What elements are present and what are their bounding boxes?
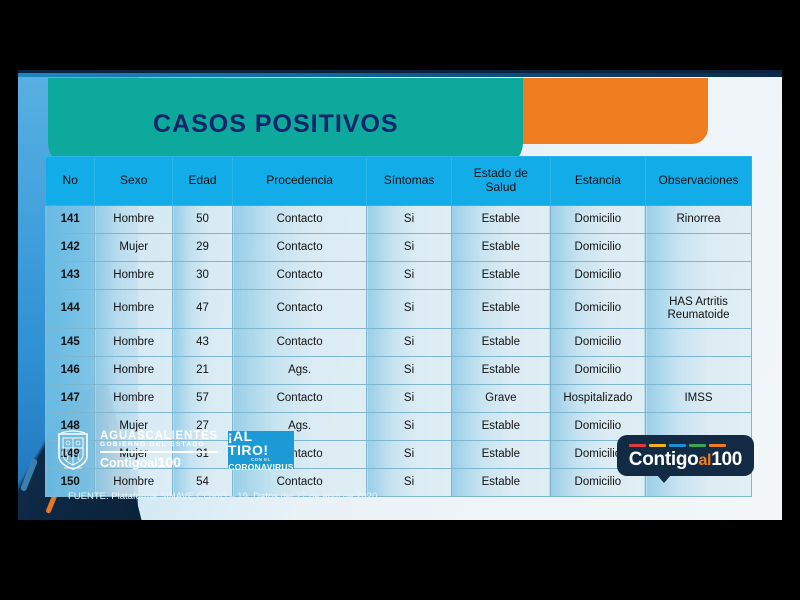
- column-header-estado-line1: Estado de: [474, 166, 528, 180]
- cell-edad: 47: [173, 290, 233, 329]
- gobierno-100-number: 100: [158, 454, 181, 470]
- table-row: 142Mujer29ContactoSiEstableDomicilio: [46, 234, 752, 262]
- table-row: 146Hombre21Ags.SiEstableDomicilio: [46, 357, 752, 385]
- cell-no: 147: [46, 385, 95, 413]
- cell-procedencia: Contacto: [233, 234, 367, 262]
- column-header-procedencia: Procedencia: [233, 157, 367, 206]
- cell-sintomas: Si: [367, 234, 452, 262]
- cell-estancia: Domicilio: [550, 262, 645, 290]
- altiro-title: ¡AL TIRO!: [228, 429, 294, 457]
- cell-estado-salud: Estable: [451, 206, 550, 234]
- altiro-coronavirus: CORONAVIRUS: [228, 463, 293, 472]
- aguascalientes-shield-icon: [56, 430, 90, 470]
- gobierno-al-word: al: [147, 456, 157, 470]
- cell-estado-salud: Estable: [451, 357, 550, 385]
- cell-estancia: Domicilio: [550, 329, 645, 357]
- cell-sexo: Hombre: [95, 290, 173, 329]
- cell-sintomas: Si: [367, 290, 452, 329]
- gobierno-divider: [100, 451, 218, 453]
- cell-edad: 21: [173, 357, 233, 385]
- cell-edad: 29: [173, 234, 233, 262]
- contigo-bar-4: [709, 444, 726, 447]
- table-row: 141Hombre50ContactoSiEstableDomicilioRin…: [46, 206, 752, 234]
- cell-observaciones: IMSS: [646, 385, 752, 413]
- contigo-bar-2: [669, 444, 686, 447]
- footer-logo-group: AGUASCALIENTES GOBIERNO DEL ESTADO Conti…: [56, 430, 294, 470]
- cell-no: 141: [46, 206, 95, 234]
- cell-sexo: Hombre: [95, 357, 173, 385]
- cell-edad: 50: [173, 206, 233, 234]
- table-row: 143Hombre30ContactoSiEstableDomicilio: [46, 262, 752, 290]
- cell-procedencia: Ags.: [233, 357, 367, 385]
- column-header-edad: Edad: [173, 157, 233, 206]
- cell-procedencia: Contacto: [233, 290, 367, 329]
- cell-sintomas: Si: [367, 357, 452, 385]
- cell-no: 144: [46, 290, 95, 329]
- contigo-wordmark: Contigoal100: [629, 450, 742, 469]
- contigo-color-bars: [629, 444, 742, 447]
- cell-estancia: Domicilio: [550, 357, 645, 385]
- contigo-100-text: 100: [711, 449, 742, 470]
- table-row: 145Hombre43ContactoSiEstableDomicilio: [46, 329, 752, 357]
- cell-sintomas: Si: [367, 413, 452, 441]
- column-header-sexo: Sexo: [95, 157, 173, 206]
- cell-procedencia: Contacto: [233, 206, 367, 234]
- cell-estado-salud: Estable: [451, 441, 550, 469]
- cell-no: 143: [46, 262, 95, 290]
- contigo-bar-1: [649, 444, 666, 447]
- contigo-bubble-tail: [657, 475, 671, 483]
- cell-sintomas: Si: [367, 262, 452, 290]
- gobierno-contigo-al-100: Contigoal100: [100, 455, 218, 470]
- cell-estado-salud: Estable: [451, 290, 550, 329]
- cell-sexo: Hombre: [95, 206, 173, 234]
- cell-edad: 30: [173, 262, 233, 290]
- cell-no: 145: [46, 329, 95, 357]
- cell-sintomas: Si: [367, 469, 452, 497]
- cell-estado-salud: Estable: [451, 329, 550, 357]
- cell-sexo: Hombre: [95, 385, 173, 413]
- table-row: 144Hombre47ContactoSiEstableDomicilioHAS…: [46, 290, 752, 329]
- column-header-sintomas: Síntomas: [367, 157, 452, 206]
- contigo-al-text: al: [698, 452, 711, 469]
- source-note: FUENTE. Plataforma SINAVE COVID – 19. Da…: [68, 491, 377, 502]
- video-frame: CASOS POSITIVOS No Sexo Edad Procedencia…: [0, 0, 800, 600]
- column-header-no: No: [46, 157, 95, 206]
- contigo-al-100-logo: Contigoal100: [617, 435, 754, 476]
- cell-procedencia: Contacto: [233, 385, 367, 413]
- contigo-word-text: Contigo: [629, 449, 699, 470]
- cell-sexo: Hombre: [95, 262, 173, 290]
- cell-procedencia: Contacto: [233, 329, 367, 357]
- cell-observaciones: HAS Artritis Reumatoide: [646, 290, 752, 329]
- cell-observaciones: [646, 234, 752, 262]
- presentation-slide: CASOS POSITIVOS No Sexo Edad Procedencia…: [18, 70, 782, 520]
- cell-estado-salud: Estable: [451, 262, 550, 290]
- cell-sexo: Hombre: [95, 329, 173, 357]
- cell-sintomas: Si: [367, 385, 452, 413]
- cell-sintomas: Si: [367, 329, 452, 357]
- cell-estado-salud: Estable: [451, 469, 550, 497]
- contigo-bar-3: [689, 444, 706, 447]
- gobierno-line-subtitle: GOBIERNO DEL ESTADO: [100, 442, 218, 449]
- cell-no: 142: [46, 234, 95, 262]
- cell-sintomas: Si: [367, 206, 452, 234]
- cell-observaciones: [646, 357, 752, 385]
- cell-edad: 43: [173, 329, 233, 357]
- cell-edad: 57: [173, 385, 233, 413]
- cell-estancia: Domicilio: [550, 206, 645, 234]
- column-header-estado-line2: Salud: [485, 180, 516, 194]
- cell-estado-salud: Estable: [451, 413, 550, 441]
- column-header-estado-salud: Estado de Salud: [451, 157, 550, 206]
- cell-estado-salud: Estable: [451, 234, 550, 262]
- cell-no: 146: [46, 357, 95, 385]
- cell-estancia: Hospitalizado: [550, 385, 645, 413]
- cell-observaciones: [646, 262, 752, 290]
- altiro-coronavirus-logo: ¡AL TIRO! CON EL CORONAVIRUS: [228, 431, 294, 469]
- contigo-bar-0: [629, 444, 646, 447]
- cell-sexo: Mujer: [95, 234, 173, 262]
- slide-top-dark-strip: [18, 70, 782, 73]
- cell-estancia: Domicilio: [550, 290, 645, 329]
- page-title: CASOS POSITIVOS: [153, 110, 399, 139]
- cell-observaciones: [646, 329, 752, 357]
- cell-sintomas: Si: [367, 441, 452, 469]
- column-header-estancia: Estancia: [550, 157, 645, 206]
- column-header-observaciones: Observaciones: [646, 157, 752, 206]
- cell-estado-salud: Grave: [451, 385, 550, 413]
- gobierno-contigo-word: Contigo: [100, 456, 147, 470]
- cell-observaciones: Rinorrea: [646, 206, 752, 234]
- table-row: 147Hombre57ContactoSiGraveHospitalizadoI…: [46, 385, 752, 413]
- cell-estancia: Domicilio: [550, 234, 645, 262]
- cell-procedencia: Contacto: [233, 262, 367, 290]
- table-header-row: No Sexo Edad Procedencia Síntomas Estado…: [46, 157, 752, 206]
- gobierno-estado-wordmark: AGUASCALIENTES GOBIERNO DEL ESTADO Conti…: [100, 430, 218, 470]
